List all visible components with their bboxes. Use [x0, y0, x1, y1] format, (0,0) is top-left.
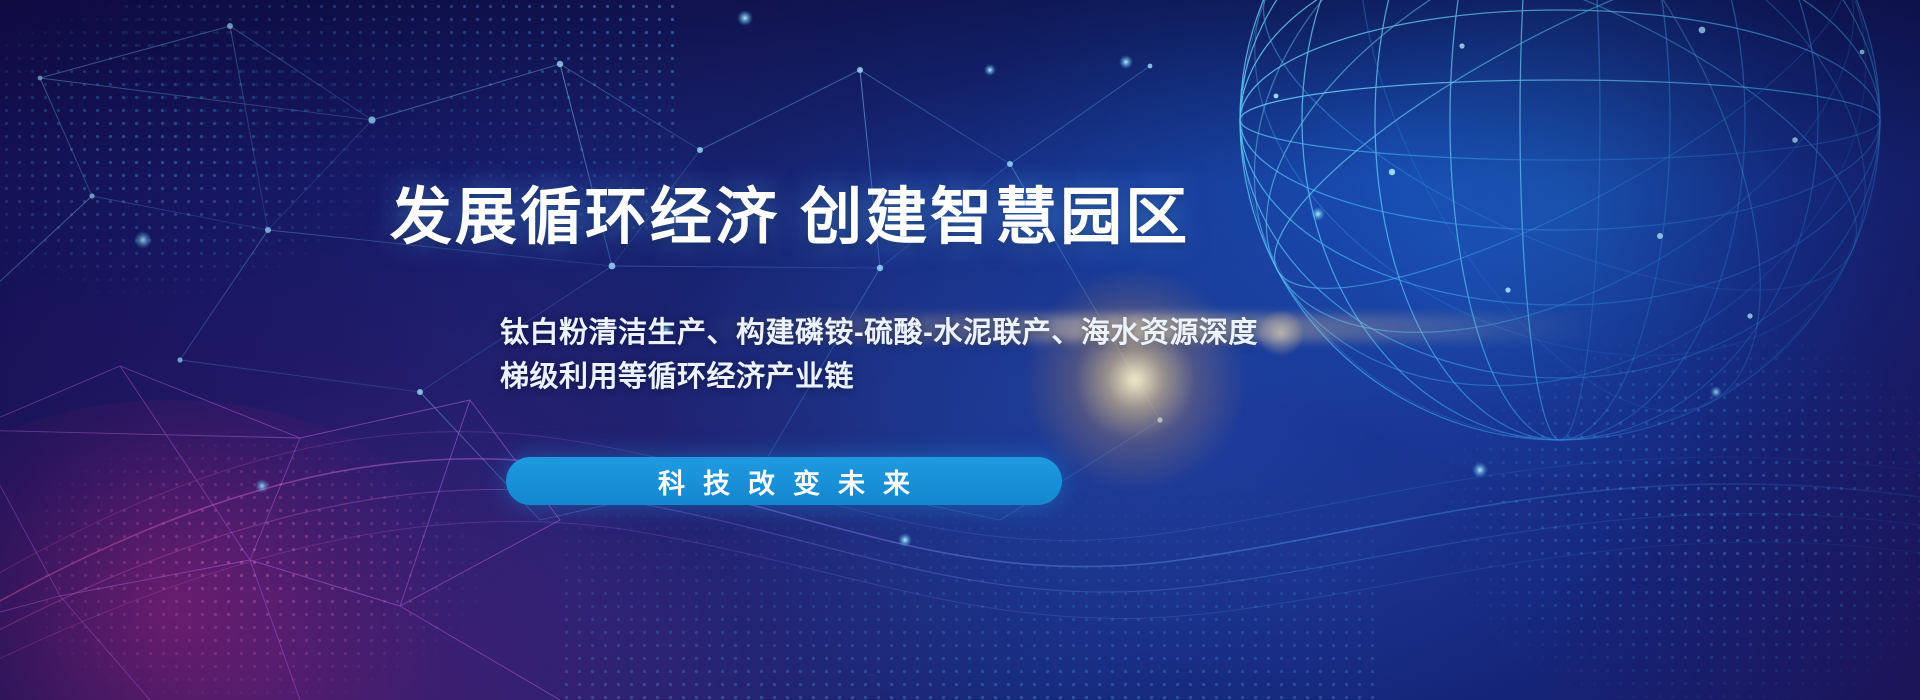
cta-button-label: 科技改变未来: [640, 462, 928, 501]
subtitle-line-2: 梯级利用等循环经济产业链: [500, 356, 1320, 400]
banner-content: 发展循环经济 创建智慧园区 钛白粉清洁生产、构建磷铵-硫酸-水泥联产、海水资源深…: [0, 0, 1920, 700]
banner-headline: 发展循环经济 创建智慧园区: [0, 166, 1580, 256]
subtitle-line-1: 钛白粉清洁生产、构建磷铵-硫酸-水泥联产、海水资源深度: [500, 312, 1320, 356]
banner-subtitle: 钛白粉清洁生产、构建磷铵-硫酸-水泥联产、海水资源深度 梯级利用等循环经济产业链: [500, 312, 1320, 399]
cta-button[interactable]: 科技改变未来: [506, 457, 1062, 505]
hero-banner: 发展循环经济 创建智慧园区 钛白粉清洁生产、构建磷铵-硫酸-水泥联产、海水资源深…: [0, 0, 1920, 700]
